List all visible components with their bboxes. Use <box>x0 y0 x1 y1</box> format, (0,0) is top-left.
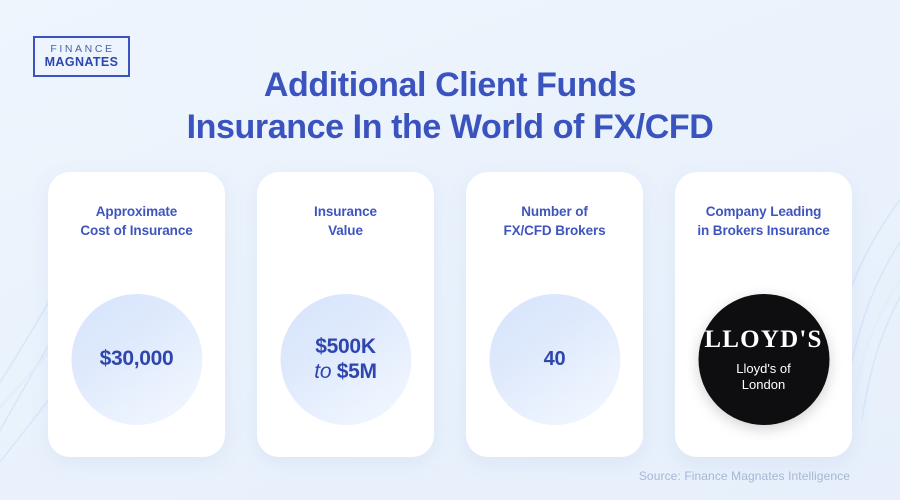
card-heading-line-2: in Brokers Insurance <box>697 221 829 240</box>
stat-card-number-of-brokers: Number of FX/CFD Brokers 40 <box>466 172 643 457</box>
lloyds-subtitle-line-2: London <box>736 377 791 393</box>
page-title: Additional Client Funds Insurance In the… <box>0 64 900 148</box>
stat-bubble: 40 <box>489 294 620 425</box>
logo-text-finance: FINANCE <box>48 43 114 55</box>
card-heading-line-1: Approximate <box>80 202 192 221</box>
card-heading: Company Leading in Brokers Insurance <box>691 202 835 240</box>
stat-bubble: $30,000 <box>71 294 202 425</box>
card-heading-line-1: Company Leading <box>697 202 829 221</box>
stat-card-row: Approximate Cost of Insurance $30,000 In… <box>48 172 852 457</box>
stat-value-range-upper: $5M <box>337 360 377 383</box>
card-heading: Number of FX/CFD Brokers <box>497 202 611 240</box>
stat-value-range-connector: to <box>314 360 331 383</box>
lloyds-subtitle: Lloyd's of London <box>736 361 791 393</box>
page-title-line-1: Additional Client Funds <box>0 64 900 106</box>
source-attribution: Source: Finance Magnates Intelligence <box>639 469 850 483</box>
card-heading: Approximate Cost of Insurance <box>74 202 198 240</box>
stat-card-leading-company: Company Leading in Brokers Insurance LLO… <box>675 172 852 457</box>
card-heading-line-1: Insurance <box>314 202 377 221</box>
card-heading: Insurance Value <box>308 202 383 240</box>
lloyds-subtitle-line-1: Lloyd's of <box>736 361 791 377</box>
stat-value-line-2: to $5M <box>314 360 376 385</box>
card-heading-line-2: Value <box>314 221 377 240</box>
stat-card-cost-of-insurance: Approximate Cost of Insurance $30,000 <box>48 172 225 457</box>
lloyds-logo-badge: LLOYD'S Lloyd's of London <box>698 294 829 425</box>
card-heading-line-2: Cost of Insurance <box>80 221 192 240</box>
lloyds-wordmark: LLOYD'S <box>704 327 822 352</box>
stat-bubble: $500K to $5M <box>280 294 411 425</box>
card-heading-line-2: FX/CFD Brokers <box>503 221 605 240</box>
stat-value-line-1: $500K <box>314 335 376 360</box>
stat-value: 40 <box>544 348 566 372</box>
page-title-line-2: Insurance In the World of FX/CFD <box>0 106 900 148</box>
stat-value: $500K to $5M <box>314 335 376 385</box>
stat-value: $30,000 <box>100 347 174 372</box>
infographic-root: FINANCE MAGNATES Additional Client Funds… <box>0 0 900 500</box>
stat-card-insurance-value: Insurance Value $500K to $5M <box>257 172 434 457</box>
card-heading-line-1: Number of <box>503 202 605 221</box>
